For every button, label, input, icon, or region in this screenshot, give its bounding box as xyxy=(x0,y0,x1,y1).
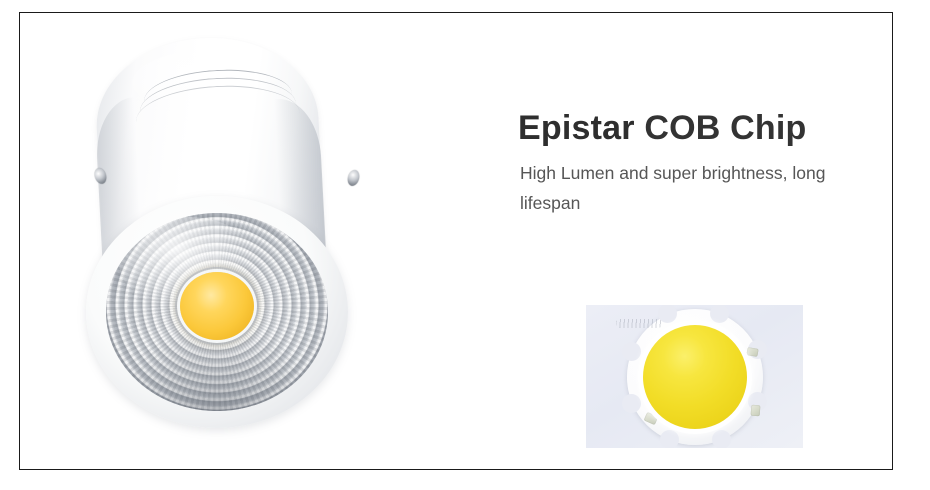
lamp-reflector xyxy=(106,213,328,411)
feature-subtitle: High Lumen and super brightness, long li… xyxy=(520,158,882,218)
spring-clip-right xyxy=(346,169,361,187)
reflector-bottom-shadow xyxy=(106,328,328,411)
feature-text-block: Epistar COB Chip High Lumen and super br… xyxy=(518,108,890,218)
page-title-rest: COB Chip xyxy=(635,109,807,147)
page-title-brand: Epistar xyxy=(518,109,635,147)
chip-solder-pad xyxy=(751,405,761,417)
cob-emitter xyxy=(180,272,254,340)
cob-chip-image xyxy=(586,305,803,448)
page-title: Epistar COB Chip xyxy=(518,108,890,148)
chip-pcb-notch xyxy=(622,342,641,361)
chip-pcb-notch xyxy=(660,430,679,448)
chip-silkscreen-marking xyxy=(616,319,662,328)
product-feature-banner: Epistar COB Chip High Lumen and super br… xyxy=(0,0,930,490)
chip-pcb-notch xyxy=(712,430,731,448)
lamp-product-image xyxy=(62,28,372,438)
chip-pcb-notch xyxy=(622,394,641,413)
chip-solder-pad xyxy=(746,347,758,357)
chip-phosphor-circle xyxy=(643,325,747,429)
